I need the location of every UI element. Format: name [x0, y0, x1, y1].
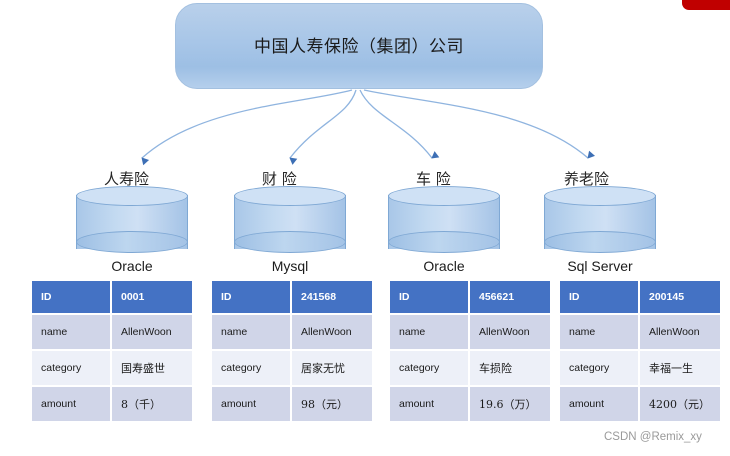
data-table-3: ID 456621 name AllenWoon category 车损险 am… — [390, 281, 550, 423]
table-row: name AllenWoon — [32, 315, 192, 349]
table-cell-value: 国寿盛世 — [112, 351, 192, 385]
cylinder-top — [234, 186, 346, 206]
data-table-2: ID 241568 name AllenWoon category 居家无忧 a… — [212, 281, 372, 423]
table-row: ID 241568 — [212, 281, 372, 313]
root-node-company[interactable]: 中国人寿保险（集团）公司 — [175, 3, 543, 89]
watermark: CSDN @Remix_xy — [604, 431, 702, 443]
table-cell-value: 居家无忧 — [292, 351, 372, 385]
db-name-1: Oracle — [76, 258, 188, 274]
db-name-2: Mysql — [234, 258, 346, 274]
table-row: ID 200145 — [560, 281, 720, 313]
database-cylinder-2[interactable] — [234, 186, 346, 258]
arrow-to-branch-3 — [360, 90, 432, 158]
database-cylinder-4[interactable] — [544, 186, 656, 258]
cylinder-bottom — [544, 231, 656, 253]
table-cell-value: 车损险 — [470, 351, 550, 385]
table-cell-key: amount — [32, 387, 110, 421]
database-cylinder-3[interactable] — [388, 186, 500, 258]
table-cell-key: amount — [212, 387, 290, 421]
arrow-to-branch-2 — [290, 90, 356, 158]
cylinder-bottom — [76, 231, 188, 253]
data-table-4: ID 200145 name AllenWoon category 幸福一生 a… — [560, 281, 720, 423]
table-cell-key: amount — [390, 387, 468, 421]
table-header-key: ID — [390, 281, 468, 313]
table-row: amount 4200（元） — [560, 387, 720, 421]
table-cell-key: category — [560, 351, 638, 385]
table-cell-value: AllenWoon — [640, 315, 720, 349]
table-header-key: ID — [32, 281, 110, 313]
database-cylinder-1[interactable] — [76, 186, 188, 258]
table-cell-key: name — [560, 315, 638, 349]
table-cell-key: name — [390, 315, 468, 349]
table-row: amount 98（元） — [212, 387, 372, 421]
table-row: name AllenWoon — [560, 315, 720, 349]
table-cell-value: 4200（元） — [640, 387, 720, 421]
table-header-key: ID — [560, 281, 638, 313]
table-cell-value: 98（元） — [292, 387, 372, 421]
cylinder-top — [544, 186, 656, 206]
cylinder-bottom — [234, 231, 346, 253]
table-header-value: 241568 — [292, 281, 372, 313]
table-cell-value: AllenWoon — [470, 315, 550, 349]
table-row: amount 19.6（万） — [390, 387, 550, 421]
table-header-value: 200145 — [640, 281, 720, 313]
table-row: name AllenWoon — [390, 315, 550, 349]
table-cell-key: category — [32, 351, 110, 385]
arrow-to-branch-1 — [142, 90, 352, 158]
branch-label-3: 车 险 — [416, 168, 451, 189]
table-row: category 国寿盛世 — [32, 351, 192, 385]
table-row: category 幸福一生 — [560, 351, 720, 385]
table-cell-value: 19.6（万） — [470, 387, 550, 421]
branch-label-1: 人寿险 — [104, 168, 149, 189]
table-row: ID 0001 — [32, 281, 192, 313]
table-cell-key: name — [32, 315, 110, 349]
table-cell-key: category — [390, 351, 468, 385]
table-cell-value: 幸福一生 — [640, 351, 720, 385]
table-cell-key: name — [212, 315, 290, 349]
table-cell-key: amount — [560, 387, 638, 421]
branch-label-2: 财 险 — [262, 168, 297, 189]
arrow-to-branch-4 — [364, 90, 588, 158]
table-cell-key: category — [212, 351, 290, 385]
data-table-1: ID 0001 name AllenWoon category 国寿盛世 amo… — [32, 281, 192, 423]
table-header-key: ID — [212, 281, 290, 313]
branch-label-4: 养老险 — [564, 168, 609, 189]
table-row: category 车损险 — [390, 351, 550, 385]
table-cell-value: AllenWoon — [112, 315, 192, 349]
table-header-value: 456621 — [470, 281, 550, 313]
table-header-value: 0001 — [112, 281, 192, 313]
root-node-label: 中国人寿保险（集团）公司 — [254, 32, 464, 57]
table-row: category 居家无忧 — [212, 351, 372, 385]
table-row: amount 8（千） — [32, 387, 192, 421]
table-cell-value: 8（千） — [112, 387, 192, 421]
cylinder-top — [76, 186, 188, 206]
cylinder-top — [388, 186, 500, 206]
db-name-3: Oracle — [388, 258, 500, 274]
table-row: name AllenWoon — [212, 315, 372, 349]
red-corner-banner — [682, 0, 730, 10]
table-row: ID 456621 — [390, 281, 550, 313]
db-name-4: Sql Server — [544, 258, 656, 274]
table-cell-value: AllenWoon — [292, 315, 372, 349]
cylinder-bottom — [388, 231, 500, 253]
diagram-canvas: 中国人寿保险（集团）公司 人寿险 Oracle ID 0001 name All… — [0, 0, 730, 456]
